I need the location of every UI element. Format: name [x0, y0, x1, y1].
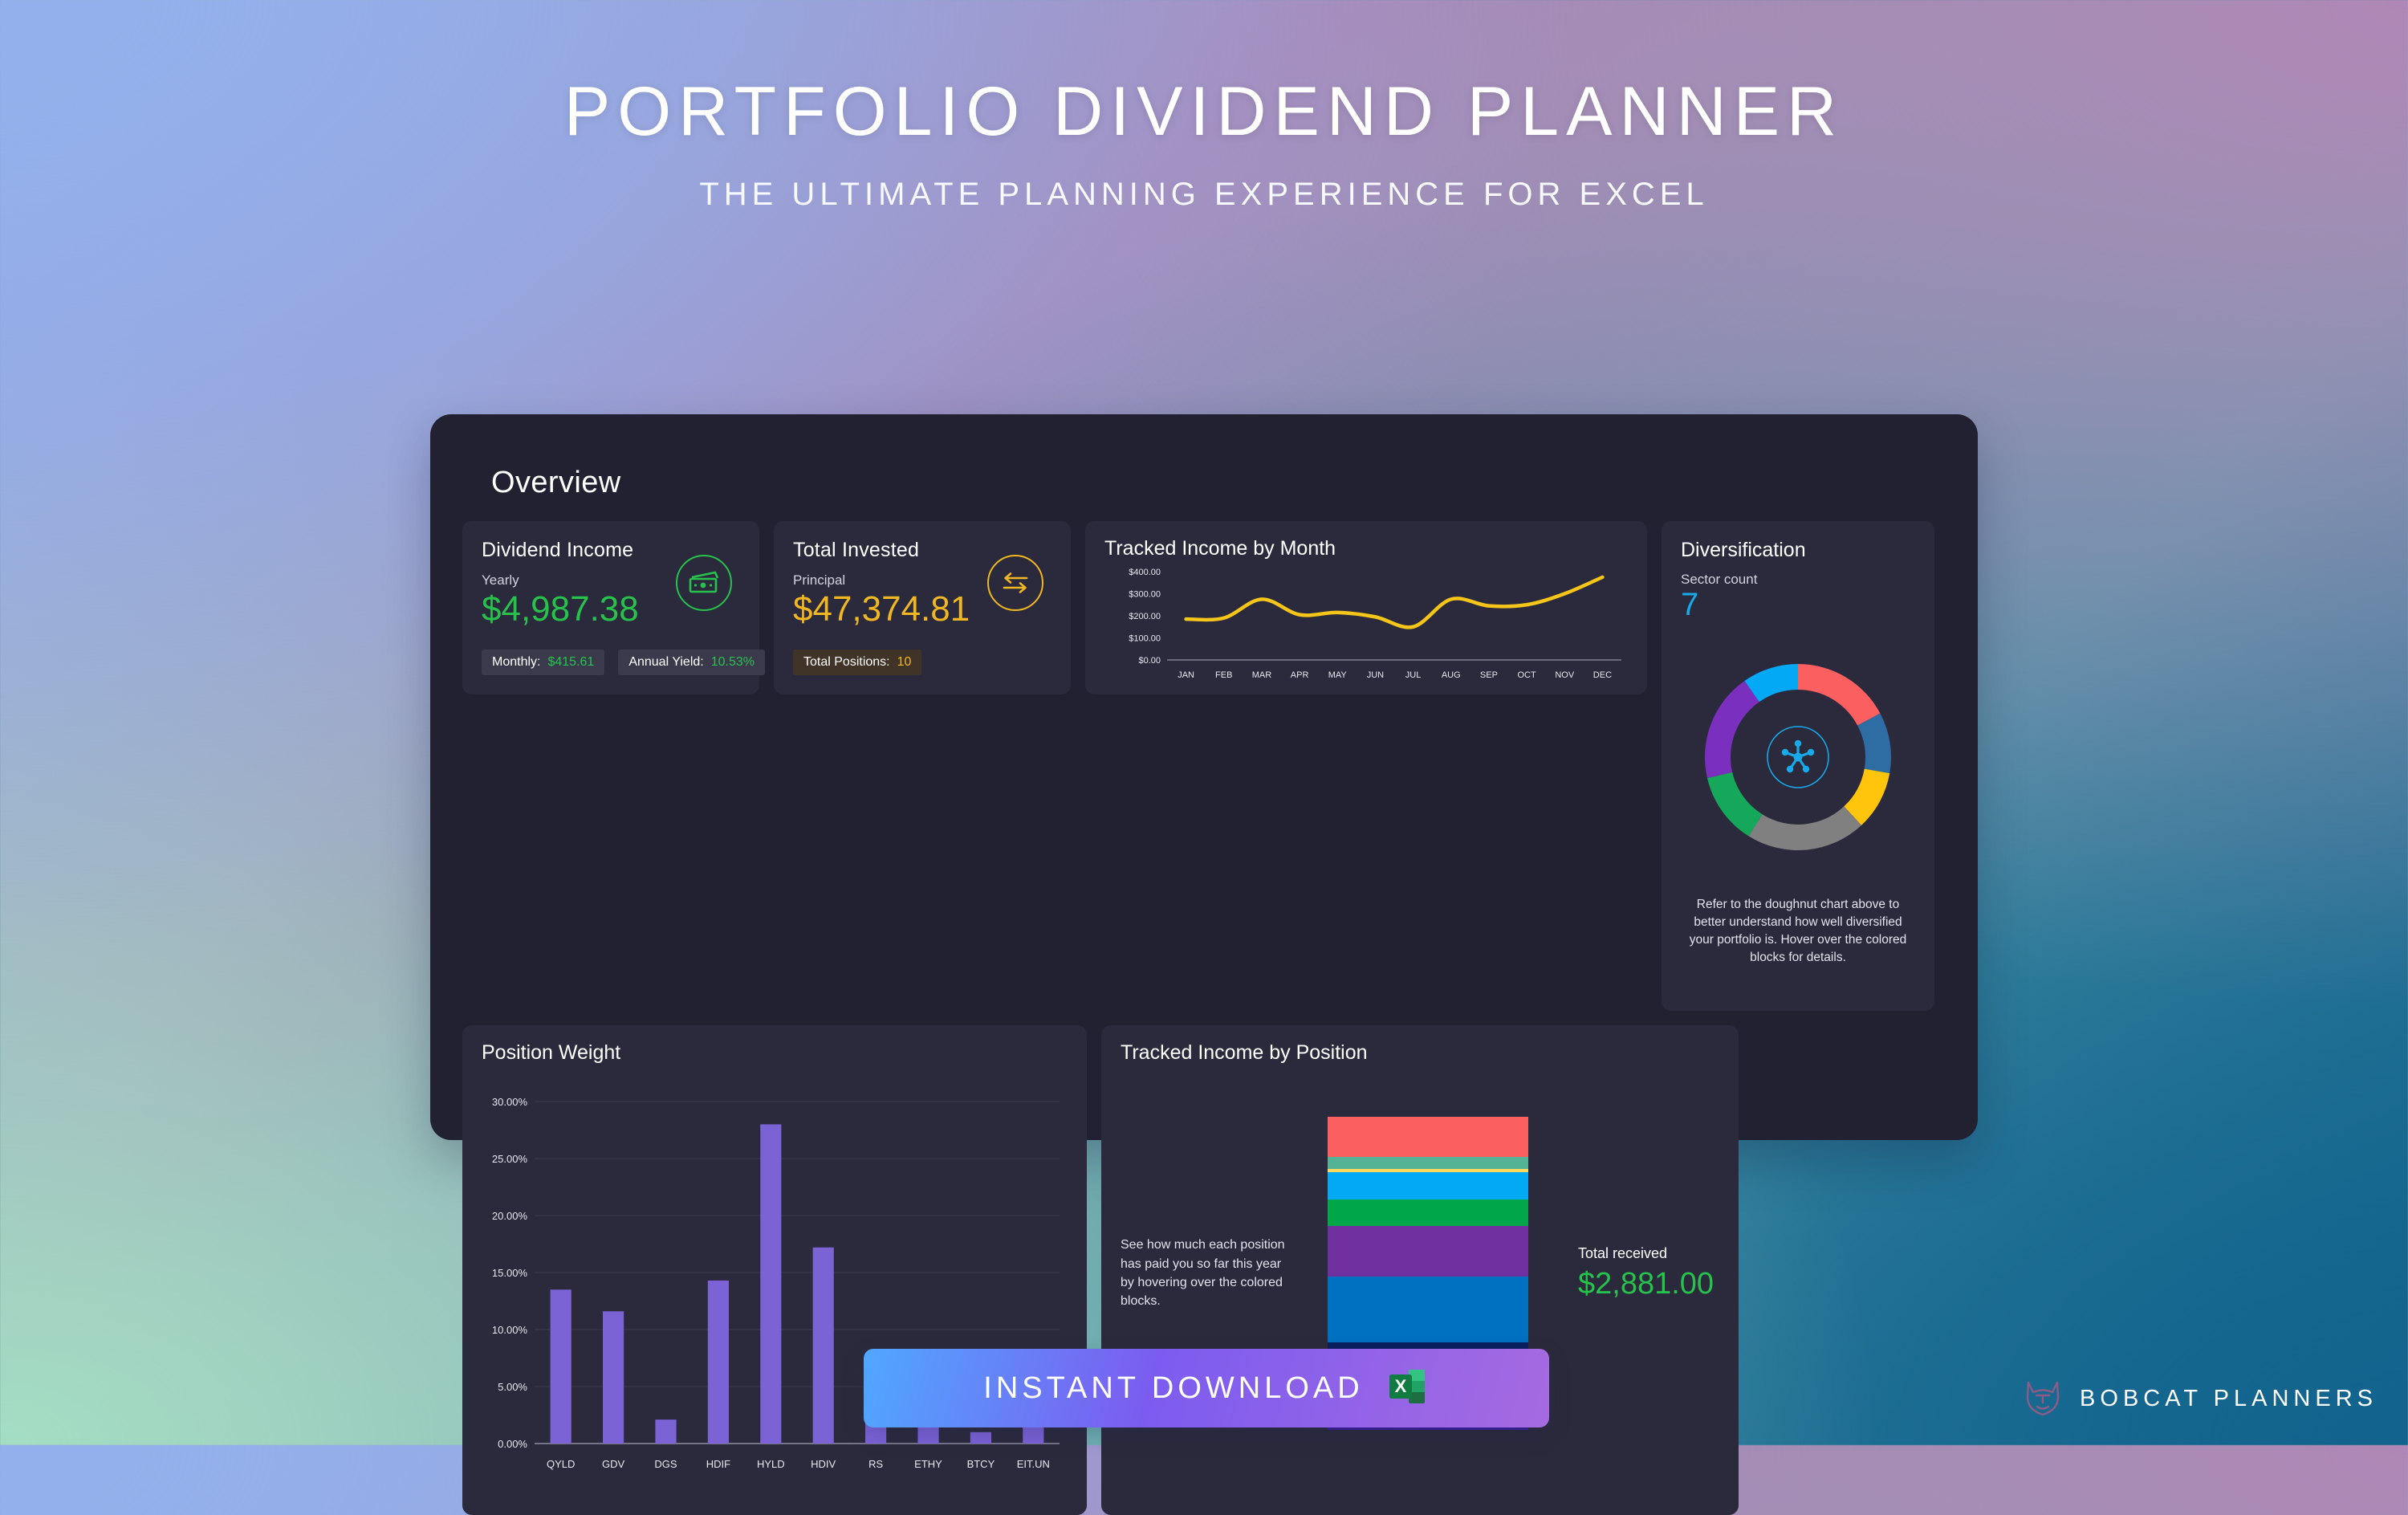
svg-text:EIT.UN: EIT.UN: [1017, 1458, 1050, 1470]
doughnut-chart-diversification[interactable]: [1681, 657, 1915, 857]
brand-label: BOBCAT PLANNERS: [2080, 1386, 2377, 1412]
pill-annual-yield-label: Annual Yield:: [628, 655, 703, 669]
stacked-bar-segment[interactable]: [1328, 1117, 1528, 1157]
brand-logo: BOBCAT PLANNERS: [2022, 1376, 2377, 1422]
svg-text:OCT: OCT: [1517, 670, 1536, 680]
tracked-income-position-title: Tracked Income by Position: [1121, 1041, 1719, 1065]
svg-text:SEP: SEP: [1480, 670, 1498, 680]
stacked-bar-segment[interactable]: [1328, 1199, 1528, 1226]
diversification-note: Refer to the doughnut chart above to bet…: [1681, 896, 1915, 967]
svg-text:$200.00: $200.00: [1129, 612, 1161, 621]
cash-icon: [676, 555, 732, 611]
dashboard-title: Overview: [491, 466, 1946, 500]
total-invested-pills: Total Positions:10: [793, 650, 921, 675]
tracked-income-position-total: Total received $2,881.00: [1567, 1245, 1719, 1301]
pill-annual-yield: Annual Yield:10.53%: [618, 650, 765, 675]
svg-text:QYLD: QYLD: [547, 1458, 575, 1470]
card-position-weight[interactable]: Position Weight 30.00%25.00%20.00%15.00%…: [462, 1025, 1087, 1515]
svg-text:AUG: AUG: [1442, 670, 1461, 680]
svg-text:NOV: NOV: [1555, 670, 1575, 680]
stacked-bar-segment[interactable]: [1328, 1226, 1528, 1277]
diversification-subtitle: Sector count: [1681, 572, 1915, 588]
tracked-income-position-hint: See how much each position has paid you …: [1121, 1236, 1289, 1310]
svg-text:5.00%: 5.00%: [498, 1381, 527, 1393]
bobcat-logo-icon: [2022, 1376, 2064, 1422]
svg-text:ETHY: ETHY: [914, 1458, 942, 1470]
svg-text:HYLD: HYLD: [757, 1458, 785, 1470]
svg-text:25.00%: 25.00%: [492, 1153, 528, 1165]
svg-text:15.00%: 15.00%: [492, 1267, 528, 1279]
hero-header: PORTFOLIO DIVIDEND PLANNER THE ULTIMATE …: [0, 0, 2408, 213]
pill-total-positions-label: Total Positions:: [803, 655, 890, 669]
svg-text:DEC: DEC: [1593, 670, 1612, 680]
pill-total-positions: Total Positions:10: [793, 650, 921, 675]
stacked-bar-segment[interactable]: [1328, 1172, 1528, 1199]
pill-monthly: Monthly:$415.61: [482, 650, 604, 675]
svg-text:DGS: DGS: [654, 1458, 677, 1470]
total-received-value: $2,881.00: [1578, 1267, 1719, 1301]
diversification-title: Diversification: [1681, 539, 1915, 562]
svg-text:$300.00: $300.00: [1129, 590, 1161, 600]
dashboard-bottom-row: Position Weight 30.00%25.00%20.00%15.00%…: [462, 1025, 1946, 1515]
card-diversification[interactable]: Diversification Sector count 7 Refer to …: [1662, 521, 1934, 1011]
dividend-income-pills: Monthly:$415.61 Annual Yield:10.53%: [482, 650, 765, 675]
card-total-invested[interactable]: Total Invested Principal $47,374.81 Tota…: [774, 521, 1071, 694]
svg-text:JUL: JUL: [1405, 670, 1422, 680]
svg-text:JAN: JAN: [1178, 670, 1194, 680]
stacked-bar-segment[interactable]: [1328, 1157, 1528, 1169]
svg-text:10.00%: 10.00%: [492, 1324, 528, 1336]
total-received-label: Total received: [1578, 1245, 1719, 1262]
svg-text:X: X: [1394, 1376, 1406, 1396]
dashboard-panel: Overview Dividend Income Yearly $4,987.3…: [430, 414, 1978, 1140]
svg-text:FEB: FEB: [1215, 670, 1232, 680]
svg-text:BTCY: BTCY: [967, 1458, 995, 1470]
pill-monthly-label: Monthly:: [492, 655, 540, 669]
svg-text:APR: APR: [1291, 670, 1309, 680]
dashboard-top-row: Dividend Income Yearly $4,987.38 Monthly…: [462, 521, 1946, 1011]
svg-text:JUN: JUN: [1367, 670, 1384, 680]
page-title: PORTFOLIO DIVIDEND PLANNER: [0, 77, 2408, 146]
instant-download-label: INSTANT DOWNLOAD: [983, 1371, 1363, 1406]
tracked-income-month-title: Tracked Income by Month: [1104, 537, 1628, 560]
diversification-sector-count: 7: [1681, 588, 1915, 621]
svg-text:30.00%: 30.00%: [492, 1096, 528, 1108]
svg-text:$400.00: $400.00: [1129, 568, 1161, 577]
svg-text:$100.00: $100.00: [1129, 634, 1161, 644]
page-subtitle: THE ULTIMATE PLANNING EXPERIENCE FOR EXC…: [0, 177, 2408, 213]
svg-text:GDV: GDV: [602, 1458, 625, 1470]
svg-text:HDIV: HDIV: [811, 1458, 836, 1470]
stacked-bar-segment[interactable]: [1328, 1277, 1528, 1342]
pill-annual-yield-value: 10.53%: [711, 655, 755, 669]
svg-text:20.00%: 20.00%: [492, 1210, 528, 1222]
svg-text:HDIF: HDIF: [706, 1458, 730, 1470]
pill-total-positions-value: 10: [897, 655, 912, 669]
svg-text:$0.00: $0.00: [1138, 656, 1161, 666]
svg-text:MAR: MAR: [1252, 670, 1272, 680]
card-tracked-income-by-month[interactable]: Tracked Income by Month $400.00$300.00$2…: [1085, 521, 1647, 694]
card-tracked-income-by-position[interactable]: Tracked Income by Position See how much …: [1101, 1025, 1739, 1515]
line-chart-tracked-income-month[interactable]: $400.00$300.00$200.00$100.00$0.00JANFEBM…: [1104, 564, 1628, 684]
pill-monthly-value: $415.61: [547, 655, 594, 669]
position-weight-title: Position Weight: [482, 1041, 1068, 1065]
svg-text:RS: RS: [868, 1458, 883, 1470]
svg-text:MAY: MAY: [1328, 670, 1348, 680]
card-dividend-income[interactable]: Dividend Income Yearly $4,987.38 Monthly…: [462, 521, 759, 694]
excel-icon: X: [1385, 1364, 1430, 1413]
instant-download-button[interactable]: INSTANT DOWNLOAD X: [864, 1349, 1549, 1427]
svg-text:0.00%: 0.00%: [498, 1438, 527, 1450]
transfer-arrows-icon: [987, 555, 1043, 611]
